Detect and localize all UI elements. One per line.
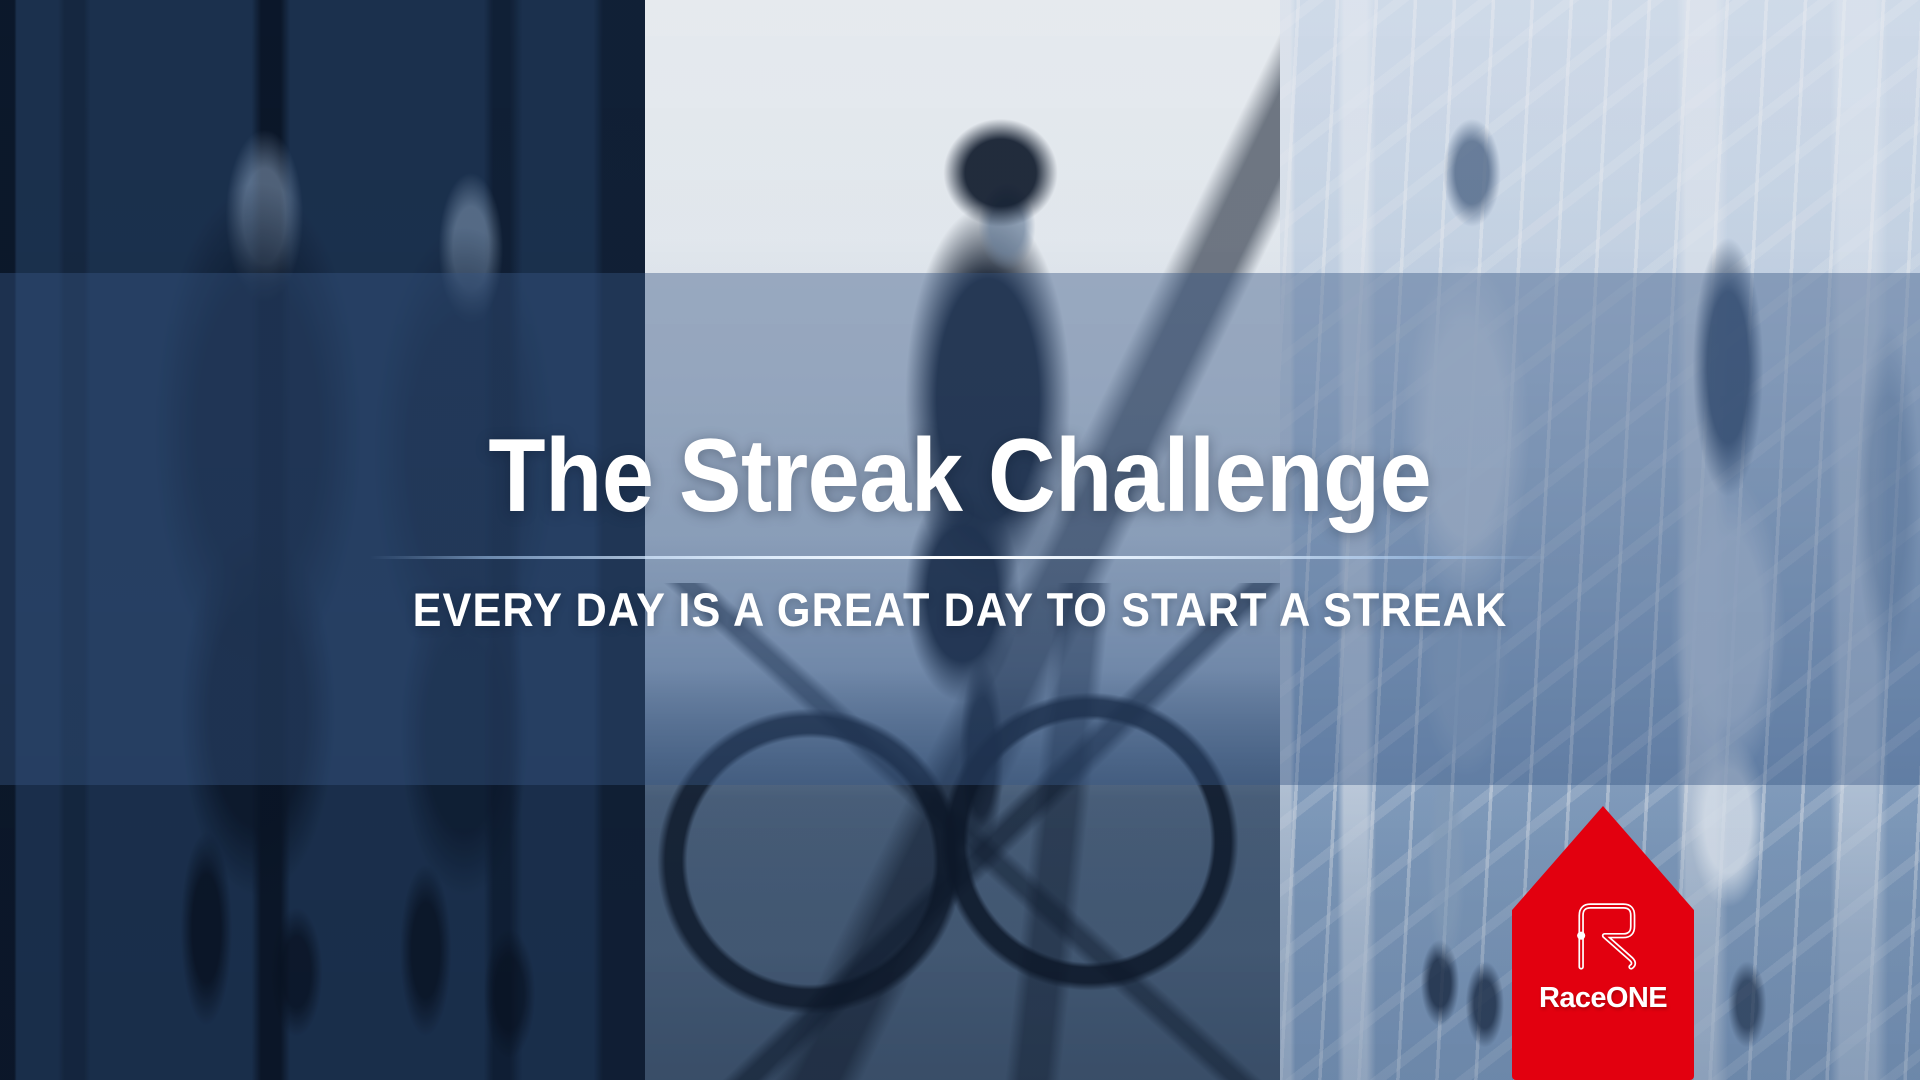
page-subtitle: EVERY DAY IS A GREAT DAY TO START A STRE… [413, 585, 1508, 634]
raceone-logo[interactable]: RaceONE [1512, 806, 1694, 1080]
hero-content: The Streak Challenge EVERY DAY IS A GREA… [0, 273, 1920, 785]
hero-banner: The Streak Challenge EVERY DAY IS A GREA… [0, 0, 1920, 1080]
page-title: The Streak Challenge [489, 424, 1432, 528]
racetrack-r-icon [1564, 892, 1642, 970]
title-divider [370, 556, 1550, 559]
logo-wordmark: RaceONE [1512, 982, 1694, 1015]
